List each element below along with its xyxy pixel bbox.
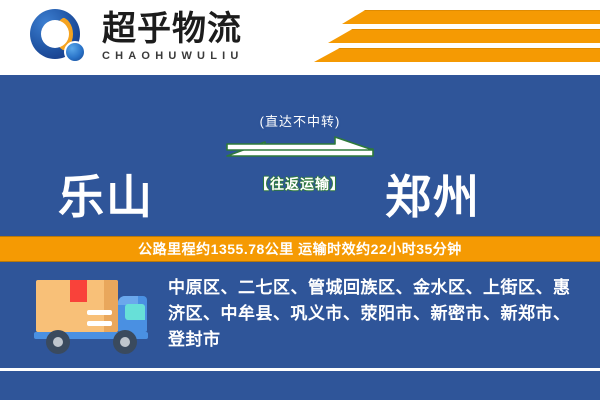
route-middle-block: (直达不中转) 【往返运输】 bbox=[215, 111, 385, 194]
stripe-2 bbox=[328, 29, 600, 43]
banner-header: 超乎物流 CHAOHUWULIU bbox=[0, 0, 600, 75]
truck-box-line-2 bbox=[87, 321, 112, 326]
truck-box-tape bbox=[70, 280, 87, 302]
stripe-1 bbox=[342, 10, 600, 24]
stripe-3 bbox=[314, 48, 600, 62]
truck-wheel-front bbox=[46, 330, 70, 354]
coverage-section: 中原区、二七区、管城回族区、金水区、上街区、惠济区、中牟县、巩义市、荥阳市、新密… bbox=[0, 262, 600, 368]
truck-wheel-hub-front bbox=[53, 337, 63, 347]
route-info-text: 公路里程约1355.78公里 运输时效约22小时35分钟 bbox=[138, 239, 462, 259]
brand-name-cn: 超乎物流 bbox=[102, 12, 244, 47]
destination-city: 郑州 bbox=[385, 174, 481, 220]
diagonal-stripes-icon bbox=[310, 10, 600, 66]
brand-name-block: 超乎物流 CHAOHUWULIU bbox=[102, 12, 244, 62]
double-headed-arrow-icon bbox=[215, 136, 385, 170]
roundtrip-note: 【往返运输】 bbox=[215, 174, 385, 194]
logo-inner-circle bbox=[41, 20, 69, 48]
origin-city: 乐山 bbox=[58, 174, 154, 220]
route-section: 乐山 (直达不中转) 【往返运输】 郑州 bbox=[0, 75, 600, 236]
truck-window bbox=[125, 304, 145, 320]
coverage-areas-text: 中原区、二七区、管城回族区、金水区、上街区、惠济区、中牟县、巩义市、荥阳市、新密… bbox=[168, 275, 578, 352]
logo-small-dot bbox=[64, 41, 86, 63]
logistics-route-banner: 超乎物流 CHAOHUWULIU 乐山 (直达不中转) 【往返运输】 郑州 bbox=[0, 0, 600, 400]
brand-logo: 超乎物流 CHAOHUWULIU bbox=[30, 6, 244, 68]
brand-name-pinyin: CHAOHUWULIU bbox=[102, 50, 244, 62]
route-info-bar: 公路里程约1355.78公里 运输时效约22小时35分钟 bbox=[0, 236, 600, 262]
truck-box-line-1 bbox=[87, 310, 112, 315]
truck-wheel-hub-rear bbox=[120, 337, 130, 347]
circle-crescent-logo-icon bbox=[30, 7, 92, 67]
banner-footer bbox=[0, 371, 600, 400]
truck-wheel-rear bbox=[113, 330, 137, 354]
direct-note: (直达不中转) bbox=[215, 111, 385, 130]
delivery-truck-icon bbox=[30, 274, 154, 356]
